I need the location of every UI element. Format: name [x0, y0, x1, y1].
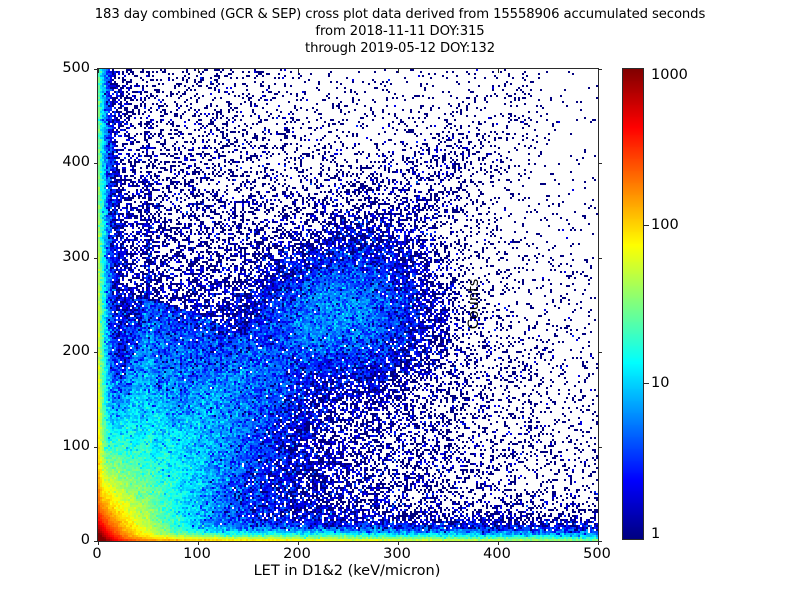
x-tick-top-200 — [298, 69, 299, 73]
x-tick-top-300 — [398, 69, 399, 73]
colorbar-tick-label-1: 1 — [651, 526, 660, 542]
colorbar-tick-10 — [644, 383, 649, 384]
x-tick-0 — [98, 541, 99, 545]
x-tick-400 — [498, 541, 499, 545]
y-tick-right-200 — [598, 352, 602, 353]
colorbar-label: Counts — [466, 68, 482, 540]
y-tick-label-400: 400 — [62, 154, 90, 170]
x-tick-300 — [398, 541, 399, 545]
x-tick-200 — [298, 541, 299, 545]
x-tick-label-100: 100 — [183, 546, 211, 562]
y-tick-right-400 — [598, 163, 602, 164]
y-tick-right-300 — [598, 258, 602, 259]
colorbar: 1101001000 — [622, 68, 644, 540]
x-tick-100 — [198, 541, 199, 545]
y-tick-300 — [94, 258, 98, 259]
x-tick-label-200: 200 — [283, 546, 311, 562]
x-tick-top-100 — [198, 69, 199, 73]
colorbar-label-wrapper: Counts — [692, 68, 712, 540]
x-tick-top-400 — [498, 69, 499, 73]
y-tick-label-300: 300 — [62, 249, 90, 265]
y-tick-200 — [94, 352, 98, 353]
colorbar-tick-label-1000: 1000 — [651, 67, 688, 83]
y-tick-right-100 — [598, 447, 602, 448]
density-heatmap — [98, 69, 598, 541]
y-tick-right-0 — [598, 541, 602, 542]
x-tick-label-500: 500 — [583, 546, 611, 562]
y-tick-100 — [94, 447, 98, 448]
title-line-1: 183 day combined (GCR & SEP) cross plot … — [0, 6, 800, 23]
y-axis-label-wrapper: LET in D3&4 (keV/micron) — [26, 68, 46, 540]
y-tick-400 — [94, 163, 98, 164]
colorbar-tick-label-10: 10 — [651, 375, 669, 391]
x-axis-label: LET in D1&2 (keV/micron) — [97, 563, 597, 579]
colorbar-tick-label-100: 100 — [651, 217, 679, 233]
y-tick-label-500: 500 — [62, 60, 90, 76]
plot-area — [97, 68, 599, 542]
y-tick-500 — [94, 69, 98, 70]
y-tick-right-500 — [598, 69, 602, 70]
x-tick-label-0: 0 — [92, 546, 101, 562]
figure-canvas: 183 day combined (GCR & SEP) cross plot … — [0, 0, 800, 600]
x-tick-label-400: 400 — [483, 546, 511, 562]
plot-title: 183 day combined (GCR & SEP) cross plot … — [0, 6, 800, 57]
y-tick-label-0: 0 — [81, 532, 90, 548]
title-line-2: from 2018-11-11 DOY:315 — [0, 23, 800, 40]
y-tick-label-200: 200 — [62, 343, 90, 359]
y-tick-label-100: 100 — [62, 438, 90, 454]
x-tick-label-300: 300 — [383, 546, 411, 562]
colorbar-frame — [622, 68, 644, 540]
x-tick-top-0 — [98, 69, 99, 73]
y-tick-0 — [94, 541, 98, 542]
title-line-3: through 2019-05-12 DOY:132 — [0, 40, 800, 57]
colorbar-tick-100 — [644, 225, 649, 226]
